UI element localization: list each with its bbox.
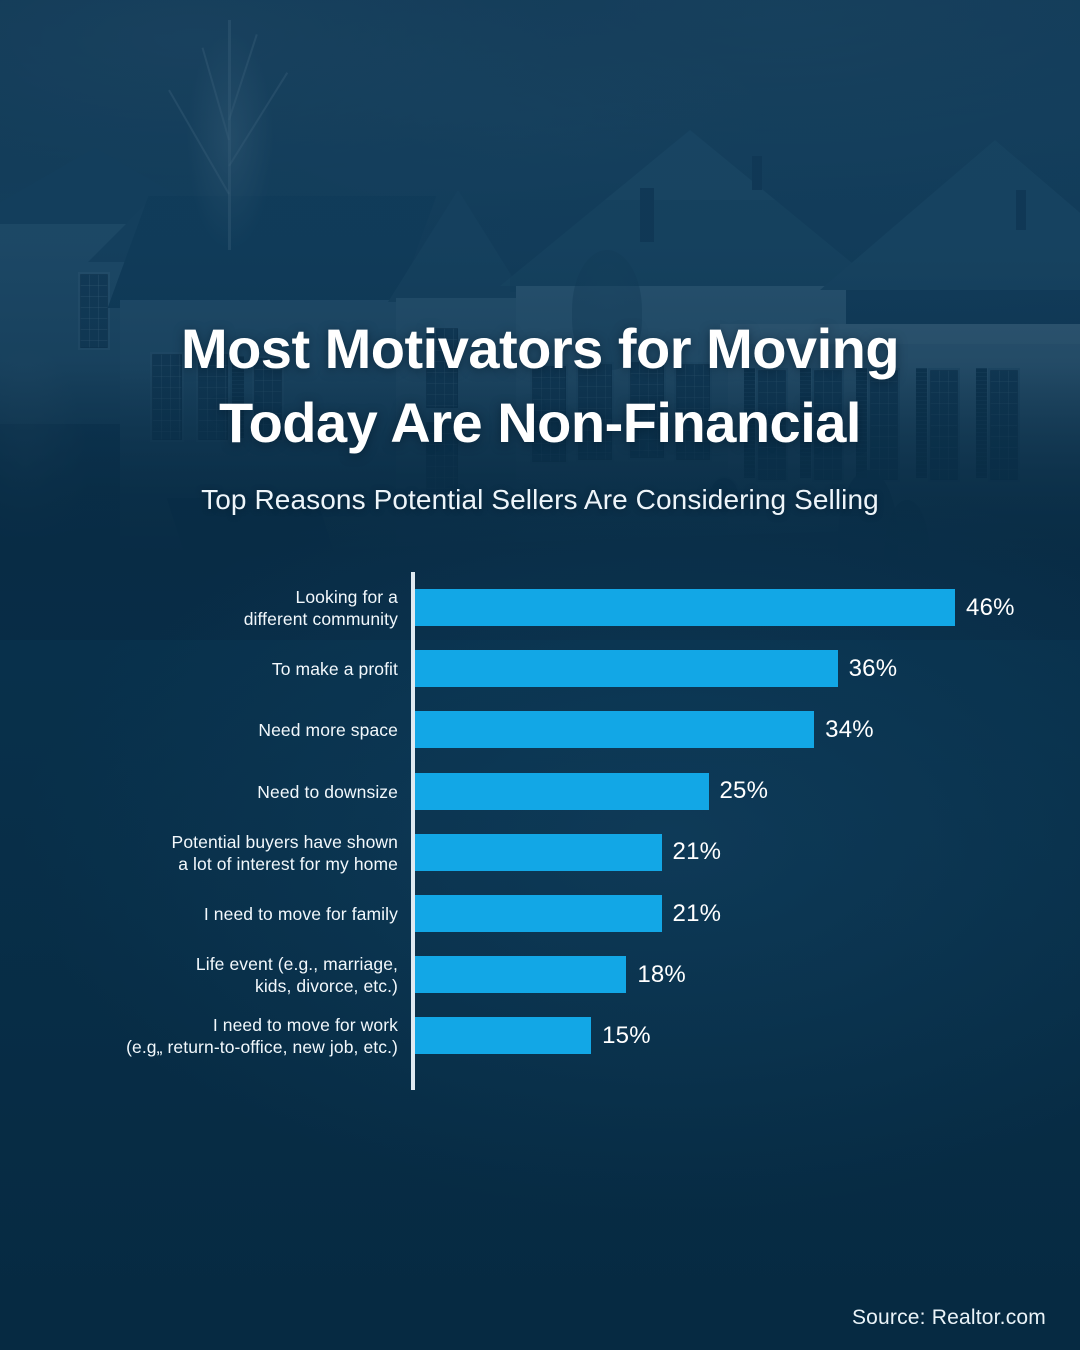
bar-category-label-line: Need to downsize [40, 781, 398, 803]
source-credit: Source: Realtor.com [852, 1306, 1046, 1330]
bar-track: 25% [415, 773, 768, 810]
bar-track: 34% [415, 711, 874, 748]
bar [415, 1017, 591, 1054]
page-title-line-2: Today Are Non-Financial [0, 386, 1080, 460]
bar-value-label: 15% [602, 1022, 651, 1050]
bar-track: 18% [415, 956, 686, 993]
bar-row: Looking for adifferent community46% [0, 589, 1080, 626]
bar-row: Life event (e.g., marriage,kids, divorce… [0, 956, 1080, 993]
bar-row: Need more space34% [0, 711, 1080, 748]
bar-category-label: I need to move for family [40, 903, 398, 925]
bar-category-label: Potential buyers have showna lot of inte… [40, 831, 398, 875]
bar-row: To make a profit36% [0, 650, 1080, 687]
bar-category-label-line: a lot of interest for my home [40, 853, 398, 875]
infographic-canvas: Most Motivators for Moving Today Are Non… [0, 0, 1080, 1350]
bar-value-label: 25% [720, 777, 769, 805]
bar-row: I need to move for work(e.g„ return-to-o… [0, 1017, 1080, 1054]
bar-category-label: I need to move for work(e.g„ return-to-o… [40, 1014, 398, 1058]
bar [415, 711, 814, 748]
bar [415, 589, 955, 626]
page-title-line-1: Most Motivators for Moving [0, 312, 1080, 386]
bar-value-label: 36% [849, 655, 898, 683]
bar-category-label-line: different community [40, 608, 398, 630]
bar-track: 21% [415, 834, 721, 871]
bar [415, 650, 838, 687]
bar-category-label-line: Life event (e.g., marriage, [40, 953, 398, 975]
bar-value-label: 34% [825, 716, 874, 744]
bar-category-label-line: Potential buyers have shown [40, 831, 398, 853]
page-subtitle: Top Reasons Potential Sellers Are Consid… [0, 482, 1080, 518]
bar-row: Need to downsize25% [0, 773, 1080, 810]
bar-category-label: To make a profit [40, 658, 398, 680]
bar-category-label-line: I need to move for work [40, 1014, 398, 1036]
bar-category-label-line: (e.g„ return-to-office, new job, etc.) [40, 1036, 398, 1058]
bar-category-label-line: Need more space [40, 719, 398, 741]
bar-value-label: 21% [673, 838, 722, 866]
bar-category-label: Life event (e.g., marriage,kids, divorce… [40, 953, 398, 997]
bar-category-label: Need more space [40, 719, 398, 741]
bar-value-label: 18% [637, 961, 686, 989]
bar-track: 21% [415, 895, 721, 932]
headline-block: Most Motivators for Moving Today Are Non… [0, 312, 1080, 518]
bar [415, 956, 626, 993]
bar-category-label-line: To make a profit [40, 658, 398, 680]
bar-category-label: Need to downsize [40, 781, 398, 803]
bar-track: 36% [415, 650, 897, 687]
bar [415, 834, 662, 871]
bar-category-label-line: I need to move for family [40, 903, 398, 925]
bar-category-label-line: Looking for a [40, 586, 398, 608]
bar-value-label: 46% [966, 594, 1015, 622]
bar-row: I need to move for family21% [0, 895, 1080, 932]
bar-track: 15% [415, 1017, 651, 1054]
bar-chart: Looking for adifferent community46%To ma… [0, 566, 1080, 1096]
bar-track: 46% [415, 589, 1015, 626]
bar-value-label: 21% [673, 900, 722, 928]
bar-category-label-line: kids, divorce, etc.) [40, 975, 398, 997]
bar [415, 895, 662, 932]
bar-row: Potential buyers have showna lot of inte… [0, 834, 1080, 871]
bar [415, 773, 709, 810]
bar-category-label: Looking for adifferent community [40, 586, 398, 630]
